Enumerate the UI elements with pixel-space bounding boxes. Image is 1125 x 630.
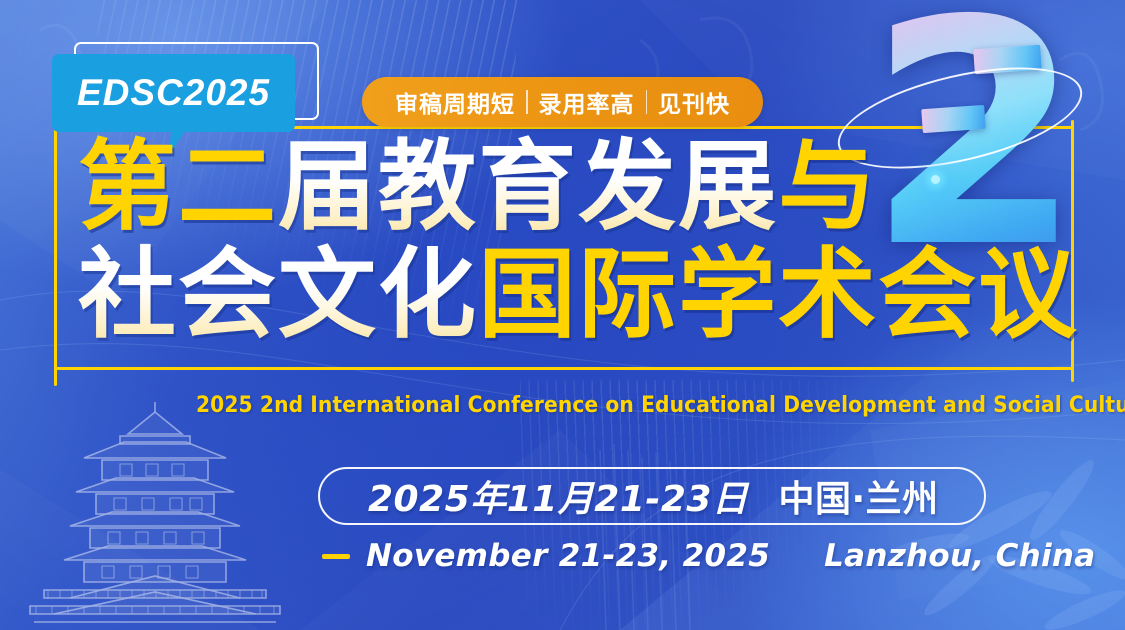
title-char: 会 <box>178 238 278 352</box>
title-char: 社 <box>78 238 178 352</box>
title-char: 教 <box>378 130 478 244</box>
date-english: November 21-23, 2025 <box>366 538 770 574</box>
title-char: 文 <box>278 238 378 352</box>
title-char: 育 <box>478 130 578 244</box>
title-line-2: 社会文化国际学术会议 <box>78 246 1058 346</box>
pagoda-icon <box>24 400 286 630</box>
frame-left-line <box>54 126 57 386</box>
date-location-en-group: November 21-23, 2025 Lanzhou, China <box>322 538 1096 574</box>
edsc-badge: EDSC2025 <box>52 50 320 132</box>
badge-fill: EDSC2025 <box>52 54 295 132</box>
title-char: 二 <box>178 130 278 244</box>
location-english: Lanzhou, China <box>824 538 1095 574</box>
highlight-segment-1: 审稿周期短 <box>384 85 526 119</box>
title-char: 发 <box>578 130 678 244</box>
title-char: 化 <box>378 238 478 352</box>
title-char: 届 <box>278 130 378 244</box>
dash-icon <box>322 554 350 559</box>
highlights-pill: 审稿周期短 录用率高 见刊快 <box>362 77 763 127</box>
title-char: 与 <box>778 130 878 244</box>
title-char: 会 <box>878 238 978 352</box>
title-char: 第 <box>78 130 178 244</box>
location-chinese: 中国·兰州 <box>778 470 938 522</box>
page-title: 第二届教育发展与 社会文化国际学术会议 <box>78 138 1058 346</box>
date-chinese: 2025年11月21-23日 <box>368 470 748 522</box>
highlight-segment-3: 见刊快 <box>647 85 741 119</box>
title-char: 展 <box>678 130 778 244</box>
title-line-1: 第二届教育发展与 <box>78 138 1058 238</box>
date-location-cn-group: 2025年11月21-23日 中国·兰州 <box>320 470 939 522</box>
date-location-bar: 2025年11月21-23日 中国·兰州 <box>318 467 986 525</box>
conference-banner: 2 EDSC2025 审稿周期短 录用率高 见刊快 第二届教育发展与 社会文化国… <box>0 0 1125 630</box>
highlight-segment-2: 录用率高 <box>528 85 646 119</box>
badge-label: EDSC2025 <box>77 72 270 114</box>
title-char: 国 <box>478 238 578 352</box>
title-char: 议 <box>978 238 1078 352</box>
subtitle-english: 2025 2nd International Conference on Edu… <box>196 392 1125 418</box>
frame-bottom-line <box>56 367 1074 370</box>
title-char: 际 <box>578 238 678 352</box>
title-char: 术 <box>778 238 878 352</box>
title-char: 学 <box>678 238 778 352</box>
